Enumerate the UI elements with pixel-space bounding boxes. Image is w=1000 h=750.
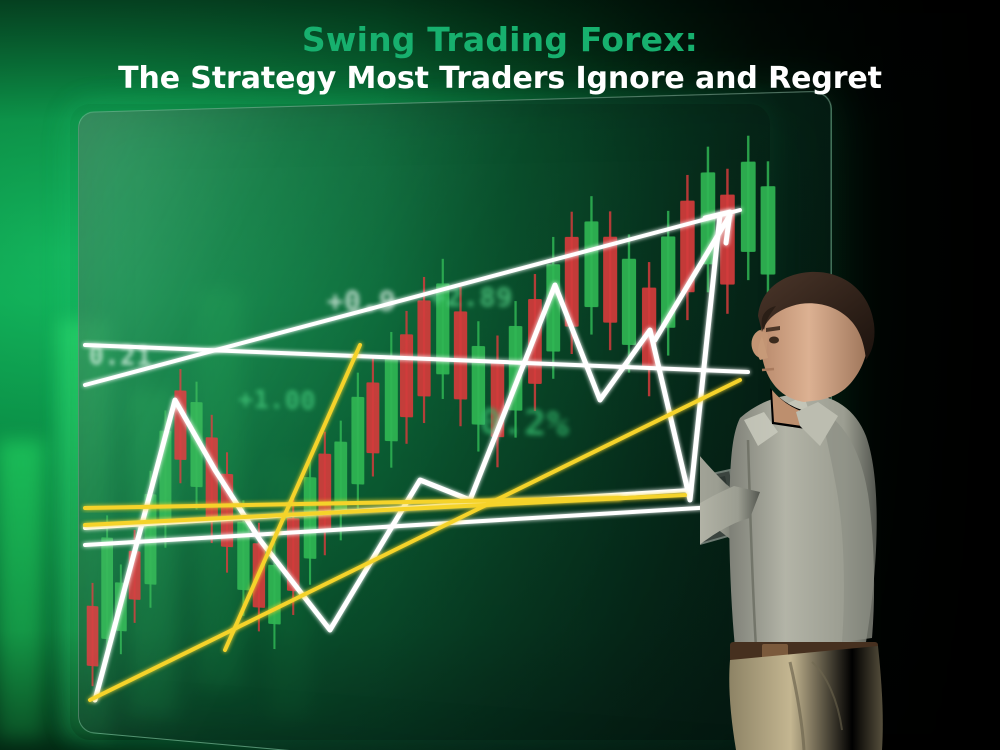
title-block: Swing Trading Forex: The Strategy Most T…: [0, 0, 1000, 96]
candle-body: [351, 397, 364, 485]
page-title-line-1: Swing Trading Forex:: [0, 0, 1000, 58]
candle-body: [681, 200, 695, 292]
candle-body: [175, 390, 187, 460]
candle-body: [206, 438, 218, 521]
candle-body: [287, 518, 300, 591]
candle-body: [454, 311, 467, 400]
candle-body: [546, 264, 560, 352]
candle-body: [584, 222, 598, 308]
candle-body: [528, 299, 542, 384]
page-title-line-2: The Strategy Most Traders Ignore and Reg…: [0, 58, 1000, 96]
candle-body: [661, 236, 675, 328]
candle-body: [115, 582, 127, 631]
candle-body: [642, 287, 656, 370]
candle-body: [367, 383, 380, 453]
candle-body: [101, 538, 113, 640]
candle-body: [190, 402, 202, 487]
candle-body: [159, 430, 171, 524]
candle-body: [268, 564, 280, 624]
screen-readout-value: 0.2%: [479, 401, 569, 445]
candle-body: [418, 301, 431, 396]
mouth: [762, 369, 774, 370]
candle-body: [129, 551, 141, 600]
screen-readout-value: +2.89: [430, 282, 513, 313]
candle-body: [565, 237, 579, 327]
candle-body: [603, 237, 617, 323]
screen-readout-value: 0.21: [89, 341, 152, 372]
eye: [769, 337, 779, 344]
candle-body: [87, 606, 99, 667]
candle-body: [400, 335, 413, 418]
candle-body: [319, 453, 332, 531]
candle-body: [334, 442, 347, 515]
hero-banner: 0.21+0.9+2.89+1.000.2%0: [0, 0, 1000, 750]
candle-body: [509, 326, 523, 411]
candle-body: [304, 477, 317, 559]
businessman-figure: [700, 270, 1000, 750]
candle-body: [760, 187, 775, 275]
candle-body: [700, 172, 715, 264]
trousers: [729, 646, 883, 750]
candle-body: [740, 161, 755, 252]
screen-readout-value: +0.9: [327, 286, 396, 318]
candle-body: [237, 521, 249, 590]
candle-body: [144, 494, 156, 585]
candle-body: [221, 473, 233, 547]
torso: [729, 394, 876, 658]
candle-body: [253, 543, 265, 608]
candle-body: [622, 259, 636, 345]
screen-readout-value: +1.00: [238, 385, 316, 416]
candle-body: [384, 356, 397, 441]
